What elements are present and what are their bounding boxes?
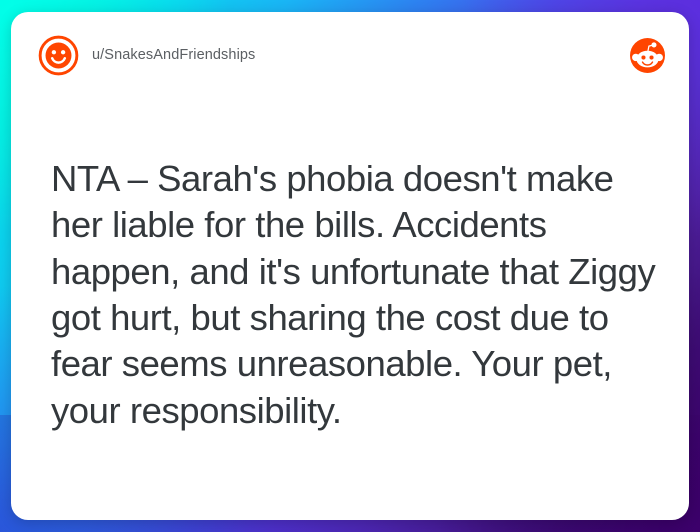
reddit-post-card: u/SnakesAndFriendships NTA – Sa — [11, 12, 689, 520]
post-body: NTA – Sarah's phobia doesn't make her li… — [11, 98, 689, 434]
reddit-snoo-icon[interactable] — [630, 38, 665, 73]
post-author-username[interactable]: u/SnakesAndFriendships — [92, 47, 255, 63]
post-text: NTA – Sarah's phobia doesn't make her li… — [51, 156, 665, 434]
smiley-face-avatar-icon[interactable] — [38, 35, 79, 76]
post-header: u/SnakesAndFriendships — [11, 12, 689, 98]
